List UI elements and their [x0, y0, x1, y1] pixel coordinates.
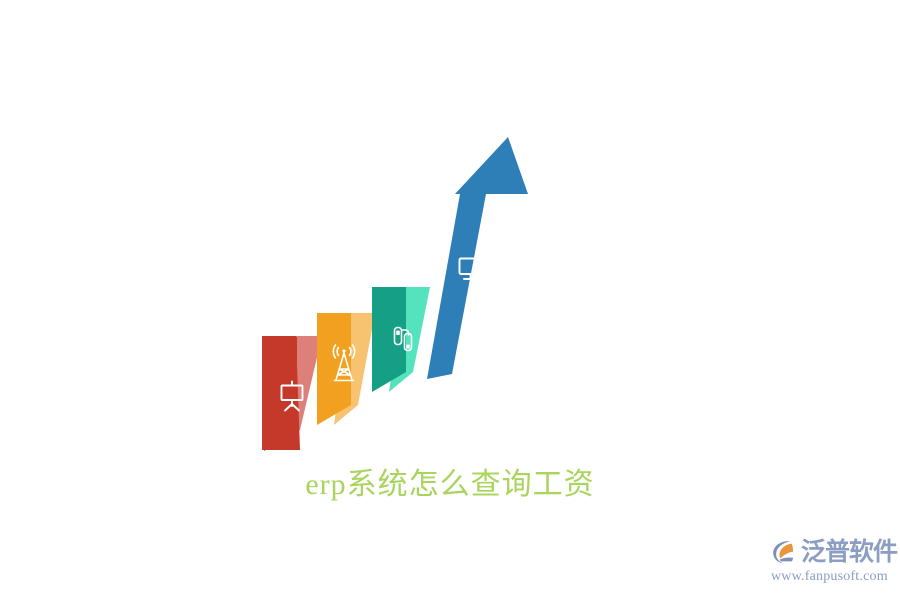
broadcast-tower-icon	[333, 345, 354, 381]
red-step-front-face	[262, 336, 300, 450]
ascending-staircase-arrow-illustration	[0, 0, 900, 600]
blue-arrow-shape	[427, 137, 528, 379]
blue-arrow-shaft-base	[427, 374, 452, 379]
red-step-body	[264, 337, 297, 451]
orange-step-body	[317, 313, 351, 425]
page-caption: erp系统怎么查询工资	[0, 463, 900, 507]
brand-logo-row: 泛普软件	[770, 535, 897, 569]
illustration-step-blue-arrow	[427, 137, 528, 379]
orange-step-side-face	[334, 313, 375, 425]
presentation-board-icon	[282, 382, 303, 411]
brand-url: www.fanpusoft.com	[771, 568, 888, 586]
brand-name: 泛普软件	[801, 538, 897, 566]
illustration-step-teal	[372, 287, 430, 392]
teal-step-side-face	[389, 287, 430, 392]
fanpu-logo-icon	[770, 538, 798, 566]
illustration-step-orange	[317, 313, 375, 425]
illustration-step-red	[262, 336, 322, 451]
brand-watermark: 泛普软件 www.fanpusoft.com	[770, 535, 895, 590]
teal-step-body	[372, 287, 406, 392]
red-step-side-face	[276, 336, 322, 450]
page-canvas: erp系统怎么查询工资 泛普软件 www.fanpusoft.com	[0, 0, 900, 600]
desktop-monitor-icon	[460, 259, 482, 280]
usb-connector-icon	[395, 328, 412, 351]
